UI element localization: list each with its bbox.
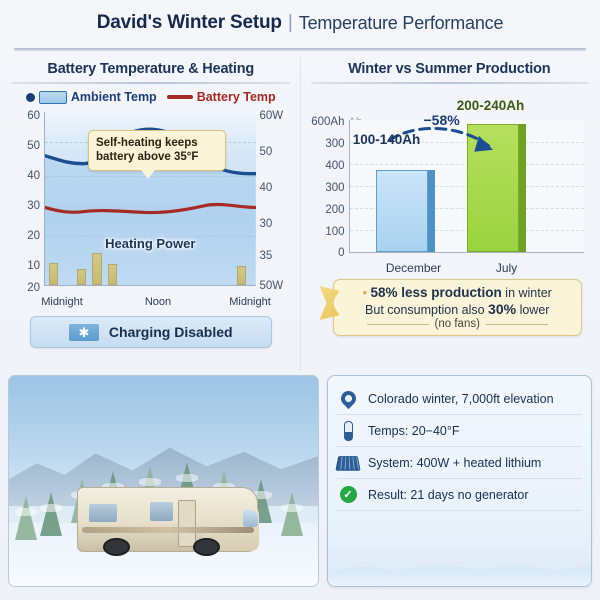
note-line-3: (no fans) bbox=[342, 318, 574, 330]
left-chart-legend: Ambient Temp Battery Temp bbox=[8, 90, 294, 104]
pine-tree bbox=[15, 496, 37, 540]
legend-area-swatch-icon bbox=[39, 91, 67, 104]
rv-body-stripe bbox=[82, 527, 254, 533]
rv-window bbox=[89, 504, 118, 523]
left-chart-panel: Battery Temperature & Heating Ambient Te… bbox=[8, 57, 300, 371]
rv-windshield bbox=[243, 510, 258, 527]
bar-side bbox=[519, 124, 526, 252]
charts-row: Battery Temperature & Heating Ambient Te… bbox=[0, 51, 600, 371]
right-panel-title: Winter vs Summer Production bbox=[307, 57, 593, 82]
y-axis-tick: 200 bbox=[309, 204, 345, 216]
x-axis-label-july: July bbox=[496, 261, 517, 275]
y-axis-left-tick: 10 bbox=[10, 260, 40, 272]
bar-side bbox=[428, 170, 435, 252]
card-snow-decoration bbox=[328, 552, 591, 586]
temperature-chart: 60 50 40 30 20 10 20 60W 50 40 30 35 50W bbox=[10, 108, 292, 308]
info-text-location: Colorado winter, 7,000ft elevation bbox=[368, 392, 554, 406]
note-line-3-text: (no fans) bbox=[435, 318, 480, 330]
thermometer-icon bbox=[337, 420, 359, 442]
note-line-2: But consumption also 30% lower bbox=[342, 301, 574, 317]
y-axis-tick: 600Ah bbox=[309, 116, 345, 128]
charging-disabled-label: Charging Disabled bbox=[109, 324, 233, 340]
info-row-system: System: 400W + heated lithium bbox=[337, 447, 582, 479]
bar-face bbox=[376, 170, 428, 252]
y-axis-left-tick: 60 bbox=[10, 110, 40, 122]
pine-tree bbox=[281, 492, 303, 536]
callout-line-2: battery above 35°F bbox=[96, 150, 218, 164]
production-note-box: • 58% less production in winter But cons… bbox=[333, 279, 583, 336]
right-chart-panel: Winter vs Summer Production 600Ah 300 40… bbox=[300, 57, 593, 371]
bar-value-july: 200-240Ah bbox=[457, 98, 525, 113]
callout-line-1: Self-heating keeps bbox=[96, 136, 218, 150]
production-chart: 600Ah 300 400 300 200 100 0 Ah bbox=[309, 90, 591, 275]
legend-item-ambient: Ambient Temp bbox=[26, 90, 157, 104]
note-line-2-bold: 30% bbox=[488, 301, 516, 317]
bar-july bbox=[467, 124, 519, 252]
bar-december bbox=[376, 170, 428, 252]
legend-dot-icon bbox=[26, 93, 35, 102]
right-panel-divider bbox=[311, 82, 589, 84]
y-axis-right-tick: 40 bbox=[260, 182, 292, 194]
y-axis-tick: 100 bbox=[309, 226, 345, 238]
drop-percentage-annotation: −58% bbox=[424, 112, 460, 128]
y-axis-right-tick: 35 bbox=[260, 250, 292, 262]
check-circle-icon: ✓ bbox=[337, 484, 359, 506]
y-axis-right-tick: 50 bbox=[260, 146, 292, 158]
location-pin-icon bbox=[337, 388, 359, 410]
bullet-icon: • bbox=[363, 286, 367, 300]
bar-face bbox=[467, 124, 519, 252]
bottom-row: Colorado winter, 7,000ft elevation Temps… bbox=[0, 371, 600, 595]
snowflake-icon: ✱ bbox=[69, 324, 99, 341]
winter-rv-photo bbox=[8, 375, 319, 587]
y-axis-left-tick: 40 bbox=[10, 170, 40, 182]
y-axis-right-tick: 60W bbox=[260, 110, 292, 122]
y-axis-tick: 300 bbox=[309, 138, 345, 150]
page-header: David's Winter Setup | Temperature Perfo… bbox=[0, 0, 600, 46]
y-axis-left-tick: 50 bbox=[10, 140, 40, 152]
x-axis-tick: Noon bbox=[145, 296, 171, 308]
charging-disabled-badge: ✱ Charging Disabled bbox=[30, 316, 272, 348]
title-separator: | bbox=[288, 12, 293, 34]
y-axis-left-tick: 20 bbox=[10, 282, 40, 294]
bar-value-december: 100-140Ah bbox=[353, 132, 421, 147]
legend-item-battery: Battery Temp bbox=[167, 90, 276, 104]
legend-label-ambient: Ambient Temp bbox=[71, 90, 157, 104]
note-line-2-post: lower bbox=[520, 303, 550, 317]
y-axis-right-tick: 30 bbox=[260, 218, 292, 230]
y-axis-right-tick: 50W bbox=[260, 280, 292, 292]
y-axis-tick: 0 bbox=[309, 247, 345, 259]
rv-motorhome bbox=[77, 487, 258, 552]
solar-panel-icon bbox=[337, 452, 359, 474]
info-row-temps: Temps: 20−40°F bbox=[337, 415, 582, 447]
rv-wheel bbox=[193, 538, 220, 556]
y-axis-tick: 400 bbox=[309, 160, 345, 172]
info-text-result: Result: 21 days no generator bbox=[368, 488, 529, 502]
rule-right bbox=[486, 324, 548, 325]
note-line-1-rest: in winter bbox=[505, 286, 552, 300]
pine-tree bbox=[40, 492, 62, 536]
note-line-1-bold: 58% less production bbox=[371, 285, 502, 300]
info-row-location: Colorado winter, 7,000ft elevation bbox=[337, 383, 582, 415]
x-axis-tick: Midnight bbox=[41, 296, 83, 308]
rv-door bbox=[178, 500, 196, 547]
note-line-2-pre: But consumption also bbox=[365, 303, 485, 317]
info-text-system: System: 400W + heated lithium bbox=[368, 456, 541, 470]
heating-power-label: Heating Power bbox=[105, 236, 195, 251]
infographic-root: David's Winter Setup | Temperature Perfo… bbox=[0, 0, 600, 600]
x-axis-label-december: December bbox=[386, 261, 441, 275]
y-axis-tick: 300 bbox=[309, 182, 345, 194]
info-text-temps: Temps: 20−40°F bbox=[368, 424, 460, 438]
rv-wheel bbox=[103, 538, 130, 556]
x-axis-tick: Midnight bbox=[229, 296, 271, 308]
left-panel-title: Battery Temperature & Heating bbox=[8, 57, 294, 82]
page-title: David's Winter Setup bbox=[97, 12, 282, 34]
ribbon-decoration-icon bbox=[320, 286, 340, 320]
y-axis-left-tick: 30 bbox=[10, 200, 40, 212]
setup-info-card: Colorado winter, 7,000ft elevation Temps… bbox=[327, 375, 592, 587]
legend-line-swatch-icon bbox=[167, 95, 193, 99]
self-heating-callout: Self-heating keeps battery above 35°F bbox=[88, 130, 226, 171]
info-row-result: ✓ Result: 21 days no generator bbox=[337, 479, 582, 511]
left-panel-divider bbox=[12, 82, 290, 84]
page-subtitle: Temperature Performance bbox=[299, 13, 504, 34]
y-axis-left-tick: 20 bbox=[10, 230, 40, 242]
rule-left bbox=[367, 324, 429, 325]
legend-label-battery: Battery Temp bbox=[197, 90, 276, 104]
note-line-1: • 58% less production in winter bbox=[342, 285, 574, 300]
rv-window bbox=[150, 502, 173, 521]
